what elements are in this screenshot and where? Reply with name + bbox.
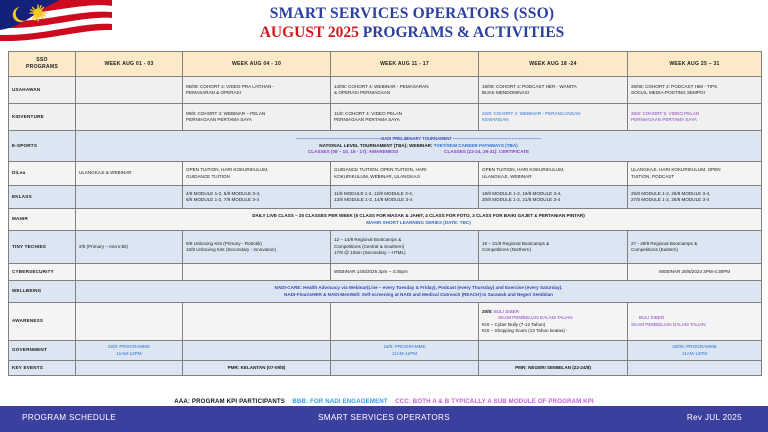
cell-tiny-techies-w2: 9/8 Unboxing Kits (Primary - Robotik) 10… [183, 231, 331, 264]
table-header-row: SSO PROGRAMS WEEK AUG 01 - 03 WEEK AUG 0… [9, 52, 762, 77]
cell-key-events-w4: PMR: NEGERI SEMBILAN (22-24/8) [479, 361, 628, 376]
footer-revision-label: Rev JUL 2025 [687, 413, 742, 422]
page-header: SMART SERVICES OPERATORS (SSO) AUGUST 20… [0, 0, 768, 50]
table-row-usahawan: USAHAWAN 06/08: COHORT 4: VIDEO PRA LATI… [9, 77, 762, 104]
row-label-government: GOVERNMENT [9, 341, 76, 361]
legend-aaa: AAA: PROGRAM KPI PARTICIPANTS [174, 398, 285, 405]
title-line-1: SMART SERVICES OPERATORS (SSO) [112, 4, 712, 23]
cell-tiny-techies-w4: 19 – 21/8 Regional Bootcamps & Competiti… [479, 231, 628, 264]
row-label-dilea: DiLea [9, 162, 76, 186]
cell-usahawan-w4: 19/08: COHORT 4: PODCAST HER - WANITA BI… [479, 77, 628, 104]
row-label-mahir: MAHIR [9, 209, 76, 231]
legend-bbb: BBB: FOR NADI ENGAGEMENT [292, 398, 387, 405]
cell-tiny-techies-w1: 2/8 (Primary – micro:bit) [76, 231, 183, 264]
cell-usahawan-w2: 06/08: COHORT 4: VIDEO PRA LATIHAN - PEM… [183, 77, 331, 104]
cell-awareness-w3 [331, 303, 479, 341]
cell-kidventure-w1 [76, 104, 183, 131]
table-row-wellbeing: WELLBEING NADI-CARE: Health Advocacy via… [9, 281, 762, 303]
cell-kidventure-w3: 11/8: COHORT 4: VIDEO PELAN PERNIAGAAN P… [331, 104, 479, 131]
title-subject: PROGRAMS & ACTIVITIES [359, 24, 564, 41]
cell-wellbeing-span: NADI-CARE: Health Advocacy via Webinar(L… [76, 281, 762, 303]
schedule-table: SSO PROGRAMS WEEK AUG 01 - 03 WEEK AUG 0… [8, 51, 762, 376]
table-row-government: GOVERNMENT 02/8: PROGRAMME 11AM-12PM 16/… [9, 341, 762, 361]
cell-awareness-w2 [183, 303, 331, 341]
footer-center-label: SMART SERVICES OPERATORS [0, 413, 768, 422]
row-label-tiny-techies: TINY TECHIES [9, 231, 76, 264]
cell-dilea-w2: OPEN TUITION, HARI KOKURIKULUM, GUIDANCE… [183, 162, 331, 186]
table-row-mahir: MAHIR DAILY LIVE CLASS – 20 CLASSES PER … [9, 209, 762, 231]
column-header-programs: SSO PROGRAMS [9, 52, 76, 77]
cell-cybersecurity-w1 [76, 264, 183, 281]
cell-tiny-techies-w3: 12 – 14/8 Regional Bootcamps & Competiti… [331, 231, 479, 264]
schedule-table-wrapper: SSO PROGRAMS WEEK AUG 01 - 03 WEEK AUG 0… [8, 51, 761, 376]
cell-dilea-w3: GUIDANCE TUITION, OPEN TUITION, HARI KOK… [331, 162, 479, 186]
cell-government-w3: 16/8: PROGRAMME 11AM-12PM [331, 341, 479, 361]
cell-cybersecurity-w3: WEBINAR 14/8/2025 3pm – 4:30pm [331, 264, 479, 281]
table-row-kidventure: KIDVENTURE 09/8: COHORT 4: WEBINAR – PEL… [9, 104, 762, 131]
row-label-eklass: EKLASS [9, 186, 76, 209]
cell-dilea-w4: OPEN TUITION, HARI KOKURIKULUM, ULANGKAJ… [479, 162, 628, 186]
cell-mahir-span: DAILY LIVE CLASS – 20 CLASSES PER WEEK (… [76, 209, 762, 231]
cell-awareness-w5: BULI SIBER SKAM PEMBELIAN DALAM TALIAN [628, 303, 762, 341]
cell-eklass-w1 [76, 186, 183, 209]
cell-government-w4 [479, 341, 628, 361]
cell-usahawan-w3: 14/08: COHORT 4: WEBINAR - PEMASARAN & O… [331, 77, 479, 104]
table-row-eklass: EKLASS 4/8 MODULE 1-2, 5/8 MODULE 3-4, 6… [9, 186, 762, 209]
cell-dilea-w1: ULANGKAJI & WEBINAR [76, 162, 183, 186]
row-label-awareness: AWARENESS [9, 303, 76, 341]
legend-ccc: CCC: BOTH A & B TYPICALLY A SUB MODULE O… [395, 398, 594, 405]
cell-key-events-w3 [331, 361, 479, 376]
cell-cybersecurity-w4 [479, 264, 628, 281]
esports-line-3: CLASSES (08 – 10, 15 - 17): AWARENESSCLA… [79, 149, 758, 155]
table-row-dilea: DiLea ULANGKAJI & WEBINAR OPEN TUITION, … [9, 162, 762, 186]
cell-key-events-w5 [628, 361, 762, 376]
cell-kidventure-w4: 23/8: COHORT 4: WEBINAR - PERANCANGAN KE… [479, 104, 628, 131]
cell-kidventure-w5: 25/8: COHORT 5: VIDEO PELAN PERNIAGAAN P… [628, 104, 762, 131]
cell-awareness-w1 [76, 303, 183, 341]
title-month-year: AUGUST 2025 [260, 24, 359, 41]
row-label-wellbeing: WELLBEING [9, 281, 76, 303]
cell-usahawan-w1 [76, 77, 183, 104]
cell-kidventure-w2: 09/8: COHORT 4: WEBINAR – PELAN PERNIAGA… [183, 104, 331, 131]
row-label-kidventure: KIDVENTURE [9, 104, 76, 131]
page-title: SMART SERVICES OPERATORS (SSO) AUGUST 20… [112, 4, 712, 42]
cell-esports-span: ----------------------------------------… [76, 131, 762, 162]
cell-key-events-w2: PMR: KELANTAN (07-09/8) [183, 361, 331, 376]
table-row-key-events: KEY EVENTS PMR: KELANTAN (07-09/8) PMR: … [9, 361, 762, 376]
column-header-week-4: WEEK AUG 18 -24 [479, 52, 628, 77]
malaysia-flag-icon [0, 0, 112, 52]
table-row-tiny-techies: TINY TECHIES 2/8 (Primary – micro:bit) 9… [9, 231, 762, 264]
column-header-week-2: WEEK AUG 04 - 10 [183, 52, 331, 77]
cell-eklass-w2: 4/8 MODULE 1-2, 5/8 MODULE 3-4, 6/8 MODU… [183, 186, 331, 209]
cell-eklass-w5: 25/8 MODULE 1-2, 26/8 MODULE 3-4, 27/8 M… [628, 186, 762, 209]
table-row-cybersecurity: CYBERSECURITY WEBINAR 14/8/2025 3pm – 4:… [9, 264, 762, 281]
cell-eklass-w4: 18/8 MODULE 1-2, 19/8 MODULE 3-4, 20/8 M… [479, 186, 628, 209]
page-footer: PROGRAM SCHEDULE SMART SERVICES OPERATOR… [0, 406, 768, 432]
title-line-2: AUGUST 2025 PROGRAMS & ACTIVITIES [112, 23, 712, 42]
table-row-awareness: AWARENESS 20/8: BULI SIBER SKAM PEMBELIA… [9, 303, 762, 341]
column-header-week-5: WEEK AUG 25 – 31 [628, 52, 762, 77]
cell-government-w5: 30/08: PROGRAMME 11AM-12PM [628, 341, 762, 361]
column-header-week-1: WEEK AUG 01 - 03 [76, 52, 183, 77]
cell-cybersecurity-w5: WEBINAR 28/8/2024 3PM-4:30PM [628, 264, 762, 281]
cell-awareness-w4: 20/8: BULI SIBER SKAM PEMBELIAN DALAM TA… [479, 303, 628, 341]
cell-eklass-w3: 11/8 MODULE 1-2, 12/8 MODULE 3-4, 13/8 M… [331, 186, 479, 209]
row-label-key-events: KEY EVENTS [9, 361, 76, 376]
column-header-week-3: WEEK AUG 11 - 17 [331, 52, 479, 77]
legend-line: AAA: PROGRAM KPI PARTICIPANTS BBB: FOR N… [0, 398, 768, 405]
cell-cybersecurity-w2 [183, 264, 331, 281]
cell-government-w1: 02/8: PROGRAMME 11AM-12PM [76, 341, 183, 361]
row-label-usahawan: USAHAWAN [9, 77, 76, 104]
cell-usahawan-w5: 26/08: COHORT 4: PODCAST HIM - TIPS SOCI… [628, 77, 762, 104]
row-label-esports: E-SPORTS [9, 131, 76, 162]
cell-key-events-w1 [76, 361, 183, 376]
cell-government-w2 [183, 341, 331, 361]
table-row-esports: E-SPORTS -------------------------------… [9, 131, 762, 162]
cell-dilea-w5: ULANGKAJI, HARI KOKURIKULUM, OPEN TUITIO… [628, 162, 762, 186]
cell-tiny-techies-w5: 27 - 29/8 Regional Bootcamps & Competiti… [628, 231, 762, 264]
row-label-cybersecurity: CYBERSECURITY [9, 264, 76, 281]
